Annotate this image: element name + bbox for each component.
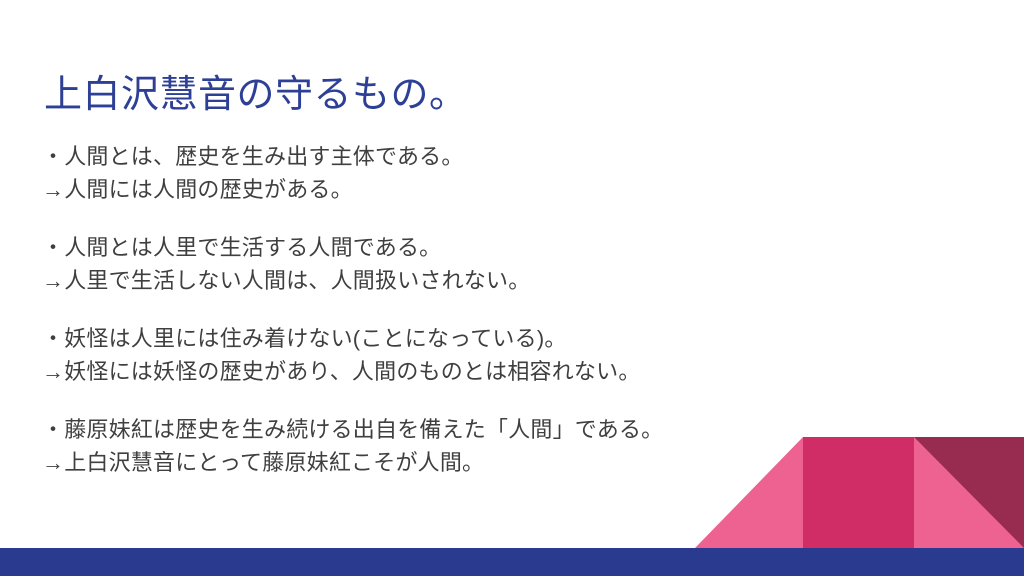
body-content: ・人間とは、歴史を生み出す主体である。 →人間には人間の歴史がある。 ・人間とは… bbox=[42, 140, 942, 480]
bottom-accent-bar bbox=[0, 548, 1024, 576]
page-title: 上白沢慧音の守るもの。 bbox=[44, 72, 924, 120]
body-paragraph-3: ・妖怪は人里には住み着けない(ことになっている)。 →妖怪には妖怪の歴史があり、… bbox=[42, 322, 942, 389]
body-paragraph-4: ・藤原妹紅は歴史を生み続ける出自を備えた「人間」である。 →上白沢慧音にとって藤… bbox=[42, 413, 942, 480]
slide-canvas: 上白沢慧音の守るもの。 ・人間とは、歴史を生み出す主体である。 →人間には人間の… bbox=[0, 0, 1024, 576]
body-paragraph-1: ・人間とは、歴史を生み出す主体である。 →人間には人間の歴史がある。 bbox=[42, 140, 942, 207]
body-paragraph-2: ・人間とは人里で生活する人間である。 →人里で生活しない人間は、人間扱いされない… bbox=[42, 231, 942, 298]
